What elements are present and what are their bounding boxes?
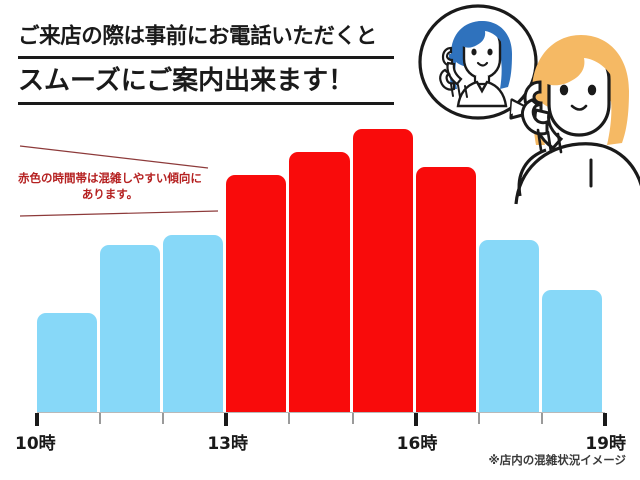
tick-label-16: 16時 bbox=[397, 429, 438, 454]
tick-16 bbox=[414, 413, 418, 426]
bar-15時 bbox=[353, 129, 413, 413]
tick-11 bbox=[99, 413, 101, 424]
bar-14時 bbox=[289, 152, 349, 413]
bar-12時 bbox=[163, 235, 223, 413]
bar-11時 bbox=[100, 245, 160, 413]
phone-call-illustration bbox=[408, 0, 640, 232]
bar-17時 bbox=[479, 240, 539, 413]
bar-10時 bbox=[37, 313, 97, 413]
tick-10 bbox=[35, 413, 39, 426]
annotation-line-1: 赤色の時間帯は混雑しやすい傾向に bbox=[10, 170, 210, 186]
x-axis-line bbox=[37, 412, 605, 413]
poster-canvas: ご来店の際は事前にお電話いただくと スムーズにご案内出来ます！ 10時13時16… bbox=[0, 0, 640, 480]
bar-18時 bbox=[542, 290, 602, 413]
tick-15 bbox=[352, 413, 354, 424]
chart-footnote: ※店内の混雑状況イメージ bbox=[489, 452, 626, 468]
bar-13時 bbox=[226, 175, 286, 413]
tick-label-19: 19時 bbox=[585, 429, 626, 454]
tick-label-10: 10時 bbox=[15, 429, 56, 454]
annotation-text: 赤色の時間帯は混雑しやすい傾向に あります。 bbox=[10, 170, 210, 202]
tick-14 bbox=[288, 413, 290, 424]
tick-12 bbox=[162, 413, 164, 424]
tick-18 bbox=[541, 413, 543, 424]
tick-label-13: 13時 bbox=[207, 429, 248, 454]
tick-13 bbox=[224, 413, 228, 426]
tick-19 bbox=[603, 413, 607, 426]
tick-17 bbox=[478, 413, 480, 424]
annotation-line-2: あります。 bbox=[10, 186, 210, 202]
